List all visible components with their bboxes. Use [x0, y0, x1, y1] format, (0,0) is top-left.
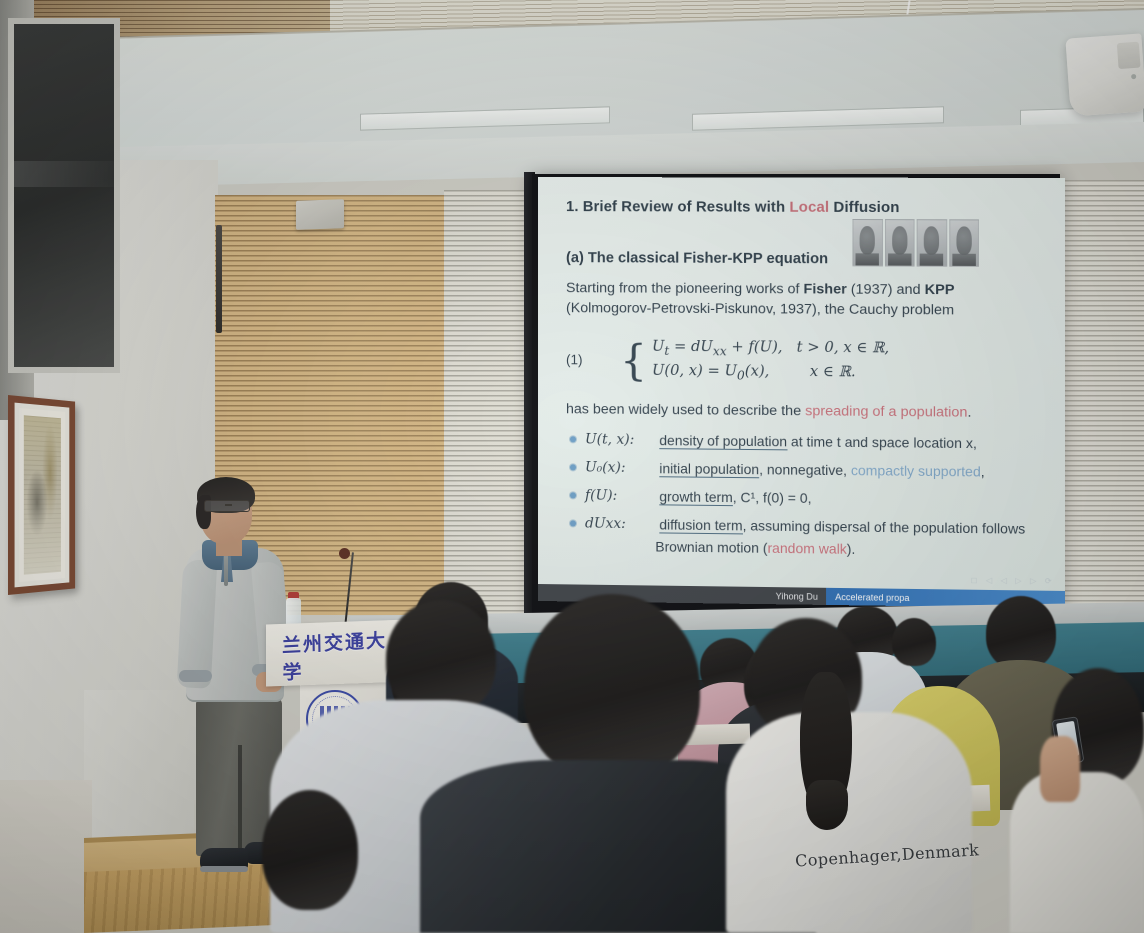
after-eq-c: .	[967, 404, 971, 420]
bullet-tail: ,	[981, 464, 985, 479]
intro-kpp: KPP	[925, 282, 955, 298]
bullet-rest: , assuming dispersal of the population f…	[743, 519, 1026, 537]
equation-brace: {	[620, 341, 647, 379]
bullet-underlined: growth term	[659, 490, 732, 507]
bullet-key: U₀(x):	[585, 459, 659, 479]
bullet-item: U₀(x): initial population, nonnegative, …	[566, 458, 1051, 483]
portrait-kolmogorov	[885, 219, 915, 267]
bullet-underlined: diffusion term	[659, 518, 742, 535]
presentation-slide[interactable]: 1. Brief Review of Results with Local Di…	[538, 177, 1065, 608]
equation-lines: Ut = dUxx + f(U),t > 0, x ∈ ℝ, U(0, x) =…	[652, 335, 889, 388]
slide-intro: Starting from the pioneering works of Fi…	[566, 278, 1051, 321]
bullet-continuation: Brownian motion (random walk).	[655, 537, 1050, 562]
intro-text-a: Starting from the pioneering works of	[566, 280, 804, 297]
mathematician-portraits	[852, 219, 978, 267]
slide-title-highlight: Local	[789, 200, 829, 216]
speaker-shoe-sole	[200, 866, 248, 872]
intro-fisher: Fisher	[804, 281, 847, 297]
speaker-cuff-left	[179, 670, 212, 682]
eq-line1-rhs: = dU	[669, 337, 712, 354]
bullet-rest: , nonnegative,	[759, 462, 851, 478]
after-eq-highlight: spreading of a population	[805, 403, 967, 421]
bullet-dot-icon	[570, 436, 576, 442]
wall-speaker-box	[296, 199, 344, 230]
bullet-text: diffusion term, assuming dispersal of th…	[659, 516, 1050, 540]
bullet-rest: at time t and space location x,	[787, 434, 977, 451]
lecture-hall-photo: 1. Brief Review of Results with Local Di…	[0, 0, 1144, 933]
wood-slat-panel-right	[1056, 180, 1144, 650]
microphone-head	[339, 548, 350, 559]
eq-line2-tail: (x),	[745, 363, 770, 380]
framed-painting	[8, 395, 75, 595]
intro-text-b: (1937) and	[847, 281, 925, 298]
bullet-item: f(U): growth term, C¹, f(0) = 0,	[566, 487, 1051, 512]
equation-number: (1)	[566, 350, 620, 370]
wall-control-panel	[216, 225, 222, 333]
speaker-glasses	[204, 500, 250, 512]
eq-line1-lhs: U	[652, 337, 664, 354]
bullet-text: growth term, C¹, f(0) = 0,	[659, 487, 1050, 511]
intro-line2: (Kolmogorov-Petrovski-Piskunov, 1937), t…	[566, 298, 1051, 321]
bullet-link: compactly supported	[851, 463, 981, 479]
eq-line2-cond: x ∈ ℝ.	[810, 363, 856, 380]
slide-bullet-list: U(t, x): density of population at time t…	[566, 430, 1051, 562]
bullet-text: density of population at time t and spac…	[659, 431, 1050, 454]
floor	[0, 780, 92, 933]
projector	[1065, 33, 1144, 116]
audience-head	[524, 594, 700, 780]
bullet-key: f(U):	[585, 487, 659, 507]
bullet-dot-icon	[570, 493, 576, 499]
bullet-dot-icon	[570, 521, 576, 527]
cont-link: random walk	[767, 541, 846, 557]
equation-block: (1) { Ut = dUxx + f(U),t > 0, x ∈ ℝ, U(0…	[566, 334, 1051, 389]
cont-text-b: ).	[847, 542, 856, 557]
audience-head	[386, 600, 496, 716]
audience-head	[262, 790, 358, 910]
bullet-rest: , C¹, f(0) = 0,	[733, 490, 812, 506]
bullet-underlined: density of population	[659, 433, 787, 450]
slide-after-equation: has been widely used to describe the spr…	[566, 399, 1051, 423]
bullet-key: dUxx:	[585, 515, 659, 535]
cont-text-a: Brownian motion (	[655, 539, 767, 555]
after-eq-a: has been widely used to describe the	[566, 401, 805, 419]
bullet-dot-icon	[570, 464, 576, 470]
audience-ponytail-tip	[806, 780, 848, 830]
eq-line1-tail: + f(U),	[727, 338, 783, 355]
audience-head	[986, 596, 1056, 670]
eq-line2-lhs: U(0, x) = U	[652, 362, 737, 380]
bullet-item: U(t, x): density of population at time t…	[566, 430, 1051, 454]
bullet-item: dUxx: diffusion term, assuming dispersal…	[566, 515, 1051, 540]
dark-wall-panel	[8, 18, 120, 373]
eq-line1-rhs-sub: xx	[713, 344, 727, 358]
slide-title-suffix: Diffusion	[829, 200, 899, 216]
bullet-key: U(t, x):	[585, 430, 659, 450]
portrait-piskunov	[949, 219, 979, 267]
eq-line2-sub: 0	[737, 369, 745, 383]
portrait-fisher	[852, 219, 882, 267]
portrait-petrovski	[917, 219, 947, 267]
slide-title-prefix: 1. Brief Review of Results with	[566, 199, 789, 216]
eq-line1-cond: t > 0, x ∈ ℝ,	[797, 338, 889, 356]
audience-head	[892, 618, 936, 666]
speaker-leg-split	[238, 745, 242, 857]
bullet-text: initial population, nonnegative, compact…	[659, 459, 1050, 483]
bullet-underlined: initial population	[659, 461, 759, 478]
slide-toolbar[interactable]: ◻ ◁ ◁ ▷ ▷ ⟳	[971, 576, 1055, 586]
slide-title: 1. Brief Review of Results with Local Di…	[566, 197, 1051, 220]
audience-hand	[1040, 736, 1080, 802]
